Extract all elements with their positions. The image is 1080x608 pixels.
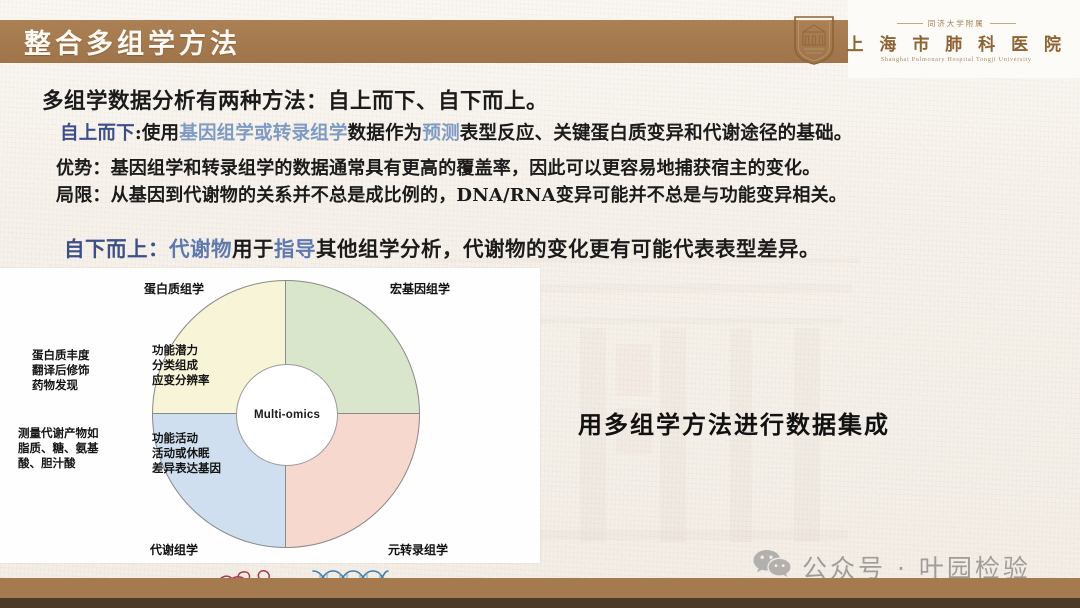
line2-seg6: 表型反应、关键蛋白质变异和代谢途径的基础。 <box>460 123 853 144</box>
q1-line-3: 药物发现 <box>32 378 90 393</box>
q4-line-2: 活动或休眠 <box>152 446 221 461</box>
logo-hospital-name: 上 海 市 肺 科 医 院 <box>846 30 1066 55</box>
text-line-3: 优势：基因组学和转录组学的数据通常具有更高的覆盖率，因此可以更容易地捕获宿主的变… <box>56 154 820 180</box>
hospital-logo: 同济大学附属 上 海 市 肺 科 医 院 Shanghai Pulmonary … <box>792 14 1066 66</box>
line5-seg5: 其他组学分析，代谢物的变化更有可能代表表型差异。 <box>316 237 820 261</box>
logo-supline-row: 同济大学附属 <box>897 18 1016 29</box>
q1-line-1: 蛋白质丰度 <box>32 348 90 363</box>
diagram-caption: 用多组学方法进行数据集成 <box>578 405 890 440</box>
line2-seg2: :使用 <box>135 123 179 144</box>
page-title: 整合多组学方法 <box>24 21 241 62</box>
donut-hub: Multi-omics <box>236 364 338 466</box>
line2-seg4: 数据作为 <box>348 123 423 144</box>
line2-seg1: 自上而下 <box>60 123 135 144</box>
outer-label-metagenomics: 宏基因组学 <box>390 280 450 297</box>
hub-label: Multi-omics <box>254 409 320 421</box>
text-line-5: 自下而上：代谢物用于指导其他组学分析，代谢物的变化更有可能代表表型差异。 <box>64 232 820 262</box>
logo-supline: 同济大学附属 <box>928 18 985 29</box>
line5-seg3: 用于 <box>232 237 274 261</box>
line5-seg1: 自下而上： <box>64 237 169 261</box>
text-line-2: 自上而下:使用基因组学或转录组学数据作为预测表型反应、关键蛋白质变异和代谢途径的… <box>60 119 852 145</box>
line2-seg5: 预测 <box>422 123 459 144</box>
q1-line-2: 翻译后修饰 <box>32 363 90 378</box>
line5-seg4: 指导 <box>274 237 316 261</box>
line2-seg3: 基因组学或转录组学 <box>179 123 347 144</box>
quadrant-text-metatranscriptomics: 功能活动 活动或休眠 差异表达基因 <box>152 431 221 476</box>
q2-line-3: 应变分辨率 <box>152 373 210 388</box>
q4-line-3: 差异表达基因 <box>152 461 221 476</box>
q3-line-1: 测量代谢产物如 <box>18 426 99 441</box>
hospital-crest-icon <box>792 14 836 66</box>
slide-root: 整合多组学方法 同济大学附属 上 海 市 肺 科 医 院 <box>0 0 1080 608</box>
q2-line-2: 分类组成 <box>152 358 210 373</box>
outer-label-metatranscriptomics: 元转录组学 <box>388 541 448 558</box>
logo-english-name: Shanghai Pulmonary Hospital Tongji Unive… <box>881 56 1032 63</box>
multi-omics-diagram-panel: Multi-omics <box>0 268 540 563</box>
text-line-1: 多组学数据分析有两种方法：自上而下、自下而上。 <box>42 84 548 115</box>
footer-edge <box>0 598 1080 608</box>
footer-band <box>0 578 1080 598</box>
quadrant-text-proteomics: 蛋白质丰度 翻译后修饰 药物发现 <box>32 348 90 393</box>
line5-seg2: 代谢物 <box>169 237 232 261</box>
quadrant-text-metagenomics: 功能潜力 分类组成 应变分辨率 <box>152 343 210 388</box>
outer-label-proteomics: 蛋白质组学 <box>144 280 204 297</box>
q3-line-2: 脂质、糖、氨基 <box>18 441 99 456</box>
multi-omics-donut: Multi-omics <box>152 280 420 548</box>
outer-label-metabolomics: 代谢组学 <box>150 541 198 558</box>
q2-line-1: 功能潜力 <box>152 343 210 358</box>
q3-line-3: 酸、胆汁酸 <box>18 456 99 471</box>
quadrant-text-metabolomics: 测量代谢产物如 脂质、糖、氨基 酸、胆汁酸 <box>18 426 99 471</box>
q4-line-1: 功能活动 <box>152 431 221 446</box>
text-line-4: 局限：从基因到代谢物的关系并不总是成比例的，DNA/RNA变异可能并不总是与功能… <box>56 181 847 207</box>
